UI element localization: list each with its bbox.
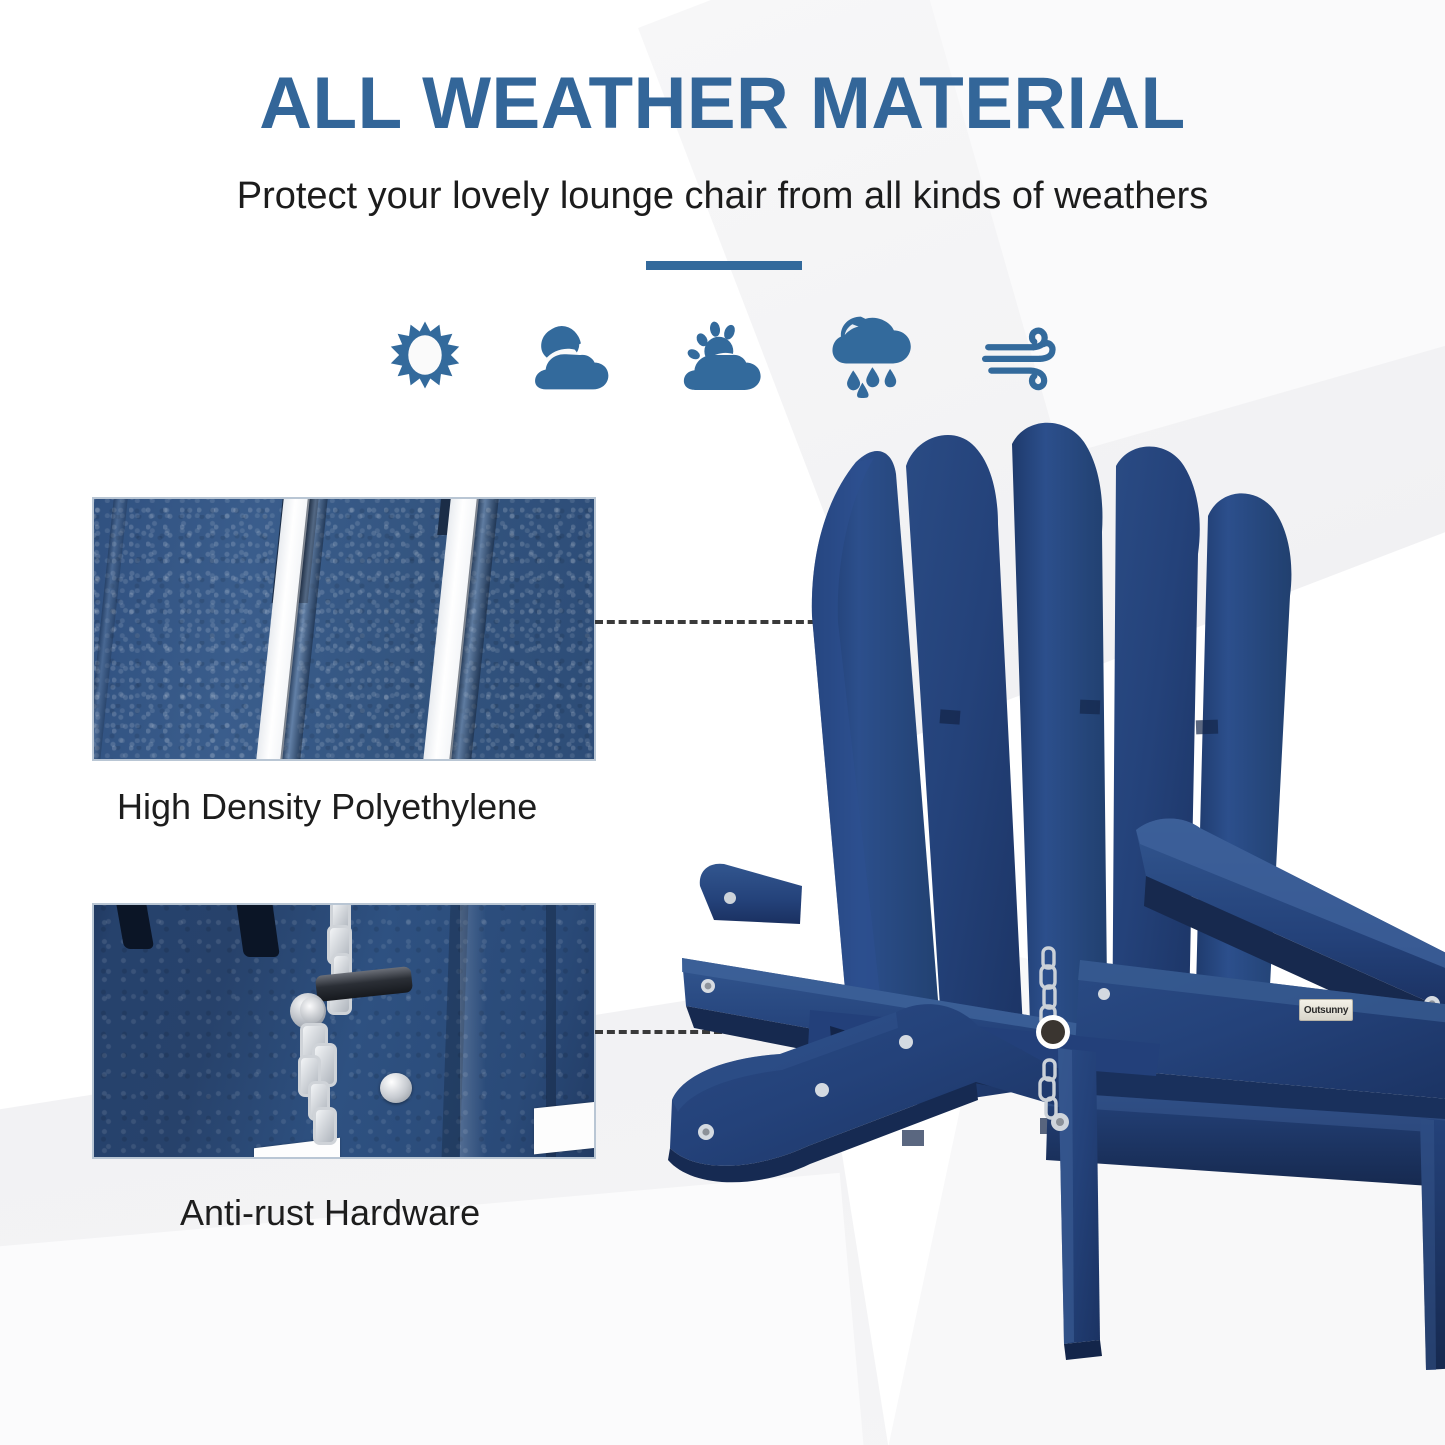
weather-icon-row: [370, 300, 1076, 410]
detail-photo-hardware: [92, 903, 596, 1159]
product-image-adirondack-chair: [660, 400, 1445, 1400]
rain-icon: [817, 305, 927, 405]
caption-hdpe: High Density Polyethylene: [117, 786, 537, 828]
brand-plate: Outsunny: [1299, 999, 1353, 1021]
page-title: ALL WEATHER MATERIAL: [0, 62, 1445, 145]
cloudy-icon: [519, 305, 629, 405]
page-subtitle: Protect your lovely lounge chair from al…: [0, 175, 1445, 218]
detail-photo-hdpe: [92, 497, 596, 761]
partly-sunny-icon: [668, 305, 778, 405]
wind-icon: [966, 305, 1076, 405]
sun-icon: [370, 305, 480, 405]
title-divider: [646, 261, 802, 270]
caption-hardware: Anti-rust Hardware: [180, 1192, 480, 1234]
infographic-canvas: ALL WEATHER MATERIAL Protect your lovely…: [0, 0, 1445, 1445]
